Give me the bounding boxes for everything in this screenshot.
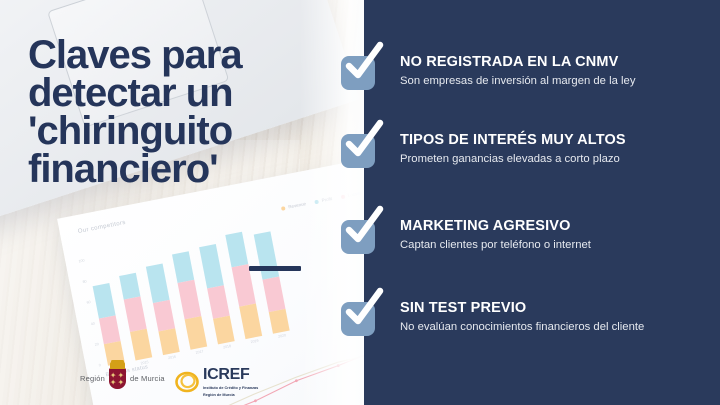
icref-name: ICREF (203, 366, 250, 383)
bar-segment (254, 231, 280, 280)
bar-segment (146, 263, 170, 303)
bar-column (146, 263, 180, 355)
bar-segment (199, 244, 224, 288)
bar-segment (99, 315, 121, 344)
bar-column (254, 231, 290, 334)
checklist-text: SIN TEST PREVIONo evalúan conocimientos … (400, 300, 644, 334)
icref-mark-icon (175, 370, 199, 394)
checklist-heading: NO REGISTRADA EN LA CNMV (400, 54, 635, 71)
bar-segment (207, 285, 230, 318)
checklist-item: SIN TEST PREVIONo evalúan conocimientos … (341, 300, 644, 336)
check-mark-icon (341, 302, 375, 336)
title-line-4: financiero' (28, 150, 358, 188)
bar-segment (178, 280, 202, 320)
chart-title: Our competitors (77, 220, 126, 235)
page-title: Claves para detectar un 'chiringuito fin… (28, 36, 358, 188)
murcia-text-right: de Murcia (130, 374, 165, 383)
murcia-text-left: Región (80, 374, 105, 383)
icref-subtitle-line-2: Región de Murcia (203, 393, 258, 398)
bar-segment (130, 329, 152, 360)
bar-segment (124, 297, 147, 333)
checklist-text: NO REGISTRADA EN LA CNMVSon empresas de … (400, 54, 635, 88)
bar-segment (225, 232, 248, 268)
checklist-subtitle: Captan clientes por teléfono o internet (400, 238, 591, 253)
bar-segment (93, 283, 116, 319)
infographic-canvas: Z X C V B fn Our competitors Revenue (0, 0, 720, 405)
murcia-crest-icon: ✦✦✦✦ (109, 368, 126, 389)
bar-segment (158, 328, 179, 355)
check-mark-icon (341, 56, 375, 90)
title-line-2: detectar un (28, 74, 358, 112)
bar-segment (213, 315, 235, 344)
bar-segment (153, 300, 175, 331)
logo-icref: ICREF Instituto de Crédito y Finanzas Re… (175, 366, 258, 398)
logo-region-de-murcia: Región ✦✦✦✦ de Murcia (80, 368, 165, 389)
checklist-heading: TIPOS DE INTERÉS MUY ALTOS (400, 132, 626, 149)
icref-wordmark-block: ICREF Instituto de Crédito y Finanzas Re… (203, 366, 258, 398)
check-mark-icon (341, 220, 375, 254)
checklist-heading: SIN TEST PREVIO (400, 300, 644, 317)
bar-segment (239, 303, 262, 339)
title-line-3: 'chiringuito (28, 112, 358, 150)
title-line-1: Claves para (28, 36, 358, 74)
bar-segment (119, 273, 140, 300)
icref-subtitle-line-1: Instituto de Crédito y Finanzas (203, 386, 258, 391)
checklist-item: TIPOS DE INTERÉS MUY ALTOSPrometen ganan… (341, 132, 626, 168)
title-underline-rule (249, 266, 301, 271)
bar-column (119, 273, 152, 360)
checklist-subtitle: Son empresas de inversión al margen de l… (400, 74, 635, 89)
check-mark-icon (341, 134, 375, 168)
bar-segment (262, 277, 285, 313)
checklist-item: MARKETING AGRESIVOCaptan clientes por te… (341, 218, 591, 254)
bar-segment (185, 316, 208, 349)
bar-segment (172, 252, 194, 283)
checklist-heading: MARKETING AGRESIVO (400, 218, 591, 235)
checklist-item: NO REGISTRADA EN LA CNMVSon empresas de … (341, 54, 635, 90)
checklist-subtitle: Prometen ganancias elevadas a corto plaz… (400, 152, 626, 167)
bar-segment (269, 309, 290, 334)
checklist-text: MARKETING AGRESIVOCaptan clientes por te… (400, 218, 591, 252)
checklist-subtitle: No evalúan conocimientos financieros del… (400, 320, 644, 335)
checklist-text: TIPOS DE INTERÉS MUY ALTOSPrometen ganan… (400, 132, 626, 166)
